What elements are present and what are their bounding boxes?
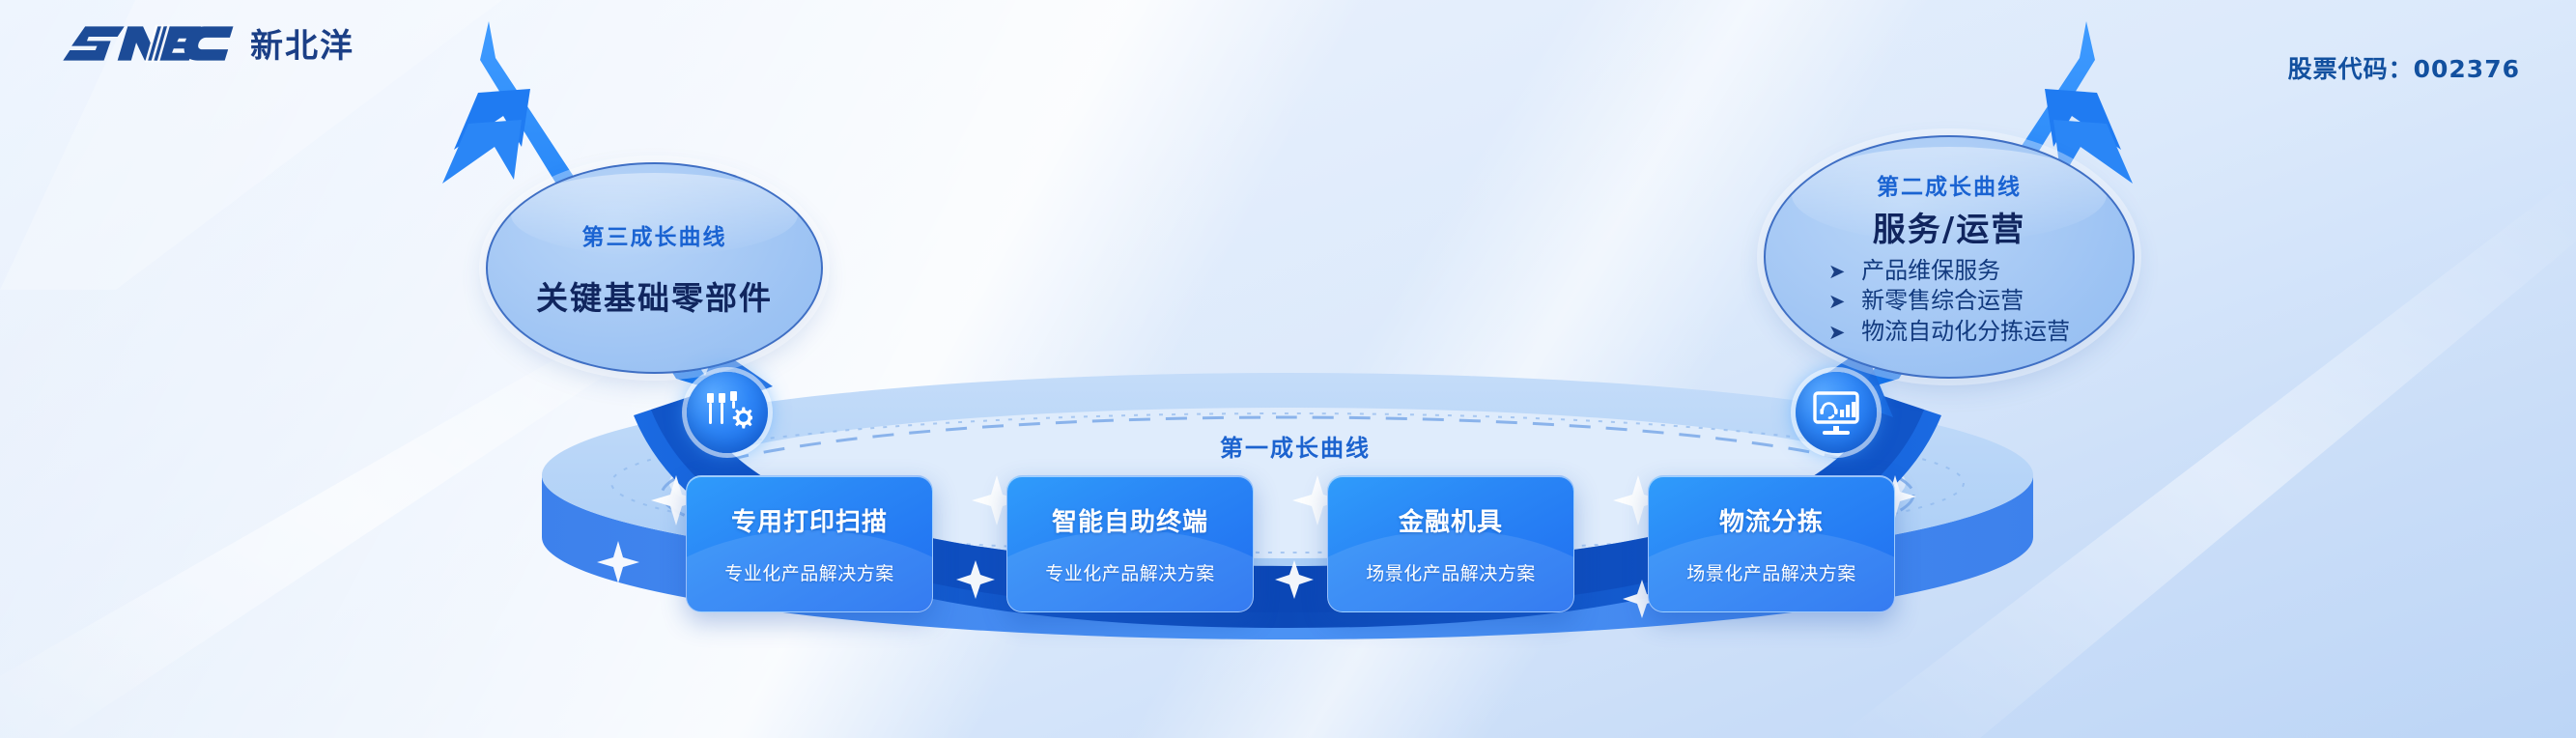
third-curve-title: 关键基础零部件 (536, 272, 773, 319)
second-curve-subtitle: 第二成长曲线 (1877, 168, 2022, 201)
stock-code-label: 股票代码：002376 (2288, 50, 2520, 85)
product-card-title: 金融机具 (1399, 502, 1503, 538)
sliders-gear-icon (702, 387, 752, 438)
brand-logo: 新北洋 (58, 19, 354, 67)
chevron-right-icon: ➤ (1828, 290, 1846, 313)
node-icon-service-operations[interactable] (1796, 372, 1877, 453)
product-card[interactable]: 物流分拣 场景化产品解决方案 (1648, 475, 1895, 612)
bubble-second-growth-curve[interactable]: 第二成长曲线 服务/运营 ➤ 产品维保服务 ➤ 新零售综合运营 ➤ 物流自动化分… (1764, 135, 2135, 379)
list-item-label: 产品维保服务 (1861, 257, 2000, 284)
monitor-headset-chart-icon (1810, 386, 1862, 439)
background-artwork (0, 0, 2576, 738)
list-item: ➤ 产品维保服务 (1828, 256, 2070, 285)
brand-name-cn: 新北洋 (250, 19, 354, 67)
second-curve-title: 服务/运营 (1873, 203, 2025, 250)
snbc-logo-icon (58, 21, 237, 66)
first-curve-label: 第一成长曲线 (1220, 429, 1371, 463)
list-item: ➤ 物流自动化分拣运营 (1828, 317, 2070, 346)
product-card-title: 专用打印扫描 (731, 502, 888, 538)
chevron-right-icon: ➤ (1828, 260, 1846, 283)
chevron-right-icon: ➤ (1828, 321, 1846, 344)
product-card-title: 物流分拣 (1719, 502, 1824, 538)
product-card-subtitle: 场景化产品解决方案 (1686, 559, 1856, 585)
product-card-title: 智能自助终端 (1052, 502, 1208, 538)
second-curve-bullet-list: ➤ 产品维保服务 ➤ 新零售综合运营 ➤ 物流自动化分拣运营 (1828, 256, 2070, 346)
infographic-canvas: 新北洋 股票代码：002376 第三成长曲线 关键基础零部件 第二成长曲线 服务… (0, 0, 2576, 738)
product-card-subtitle: 场景化产品解决方案 (1366, 559, 1536, 585)
list-item: ➤ 新零售综合运营 (1828, 286, 2070, 315)
list-item-label: 新零售综合运营 (1861, 287, 2024, 314)
list-item-label: 物流自动化分拣运营 (1861, 318, 2070, 345)
product-card-subtitle: 专业化产品解决方案 (724, 559, 894, 585)
product-card[interactable]: 智能自助终端 专业化产品解决方案 (1006, 475, 1254, 612)
third-curve-subtitle: 第三成长曲线 (582, 218, 727, 251)
product-card[interactable]: 专用打印扫描 专业化产品解决方案 (686, 475, 933, 612)
node-icon-components[interactable] (687, 372, 768, 453)
product-card-subtitle: 专业化产品解决方案 (1045, 559, 1215, 585)
product-card[interactable]: 金融机具 场景化产品解决方案 (1327, 475, 1574, 612)
bubble-third-growth-curve[interactable]: 第三成长曲线 关键基础零部件 (486, 162, 823, 374)
